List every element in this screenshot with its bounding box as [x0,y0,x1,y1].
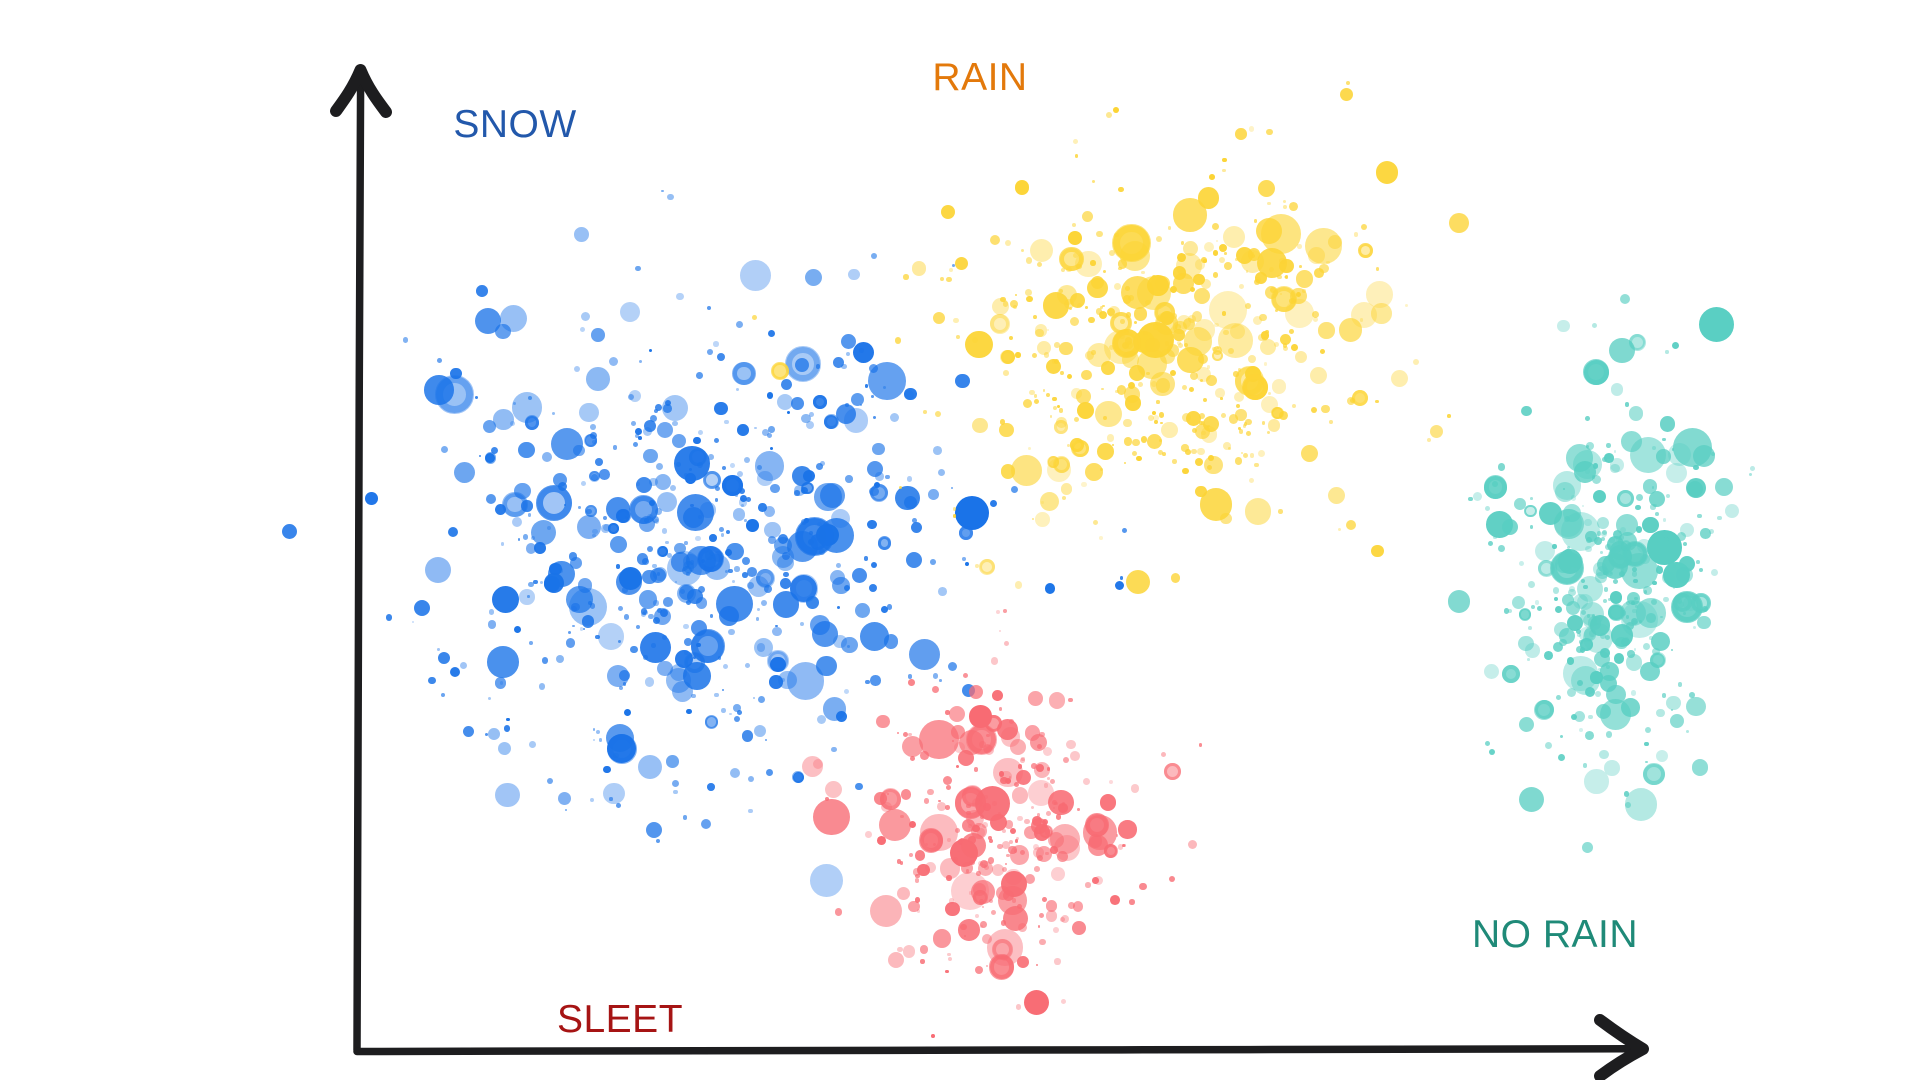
scatter-point-speck [437,648,440,651]
scatter-point-speck [1053,927,1059,933]
scatter-point [1025,725,1041,741]
scatter-point [990,814,1007,831]
scatter-point [1328,487,1345,504]
scatter-point-speck [732,580,735,583]
scatter-point [1346,520,1356,530]
scatter-point [764,522,780,538]
scatter-point [1656,709,1665,718]
scatter-point [794,490,799,495]
scatter-point [975,966,983,974]
scatter-point [1592,323,1597,328]
scatter-point [403,337,409,343]
scatter-point [646,822,663,839]
scatter-point [864,556,869,561]
scatter-point-speck [1625,402,1630,407]
scatter-point-ring [973,890,988,905]
scatter-point [498,742,511,755]
scatter-point [801,414,810,423]
scatter-point [845,475,852,482]
scatter-point [734,716,740,722]
scatter-point [787,411,790,414]
scatter-point [475,396,478,399]
scatter-point [869,364,878,373]
cluster-label-snow: SNOW [453,103,576,147]
scatter-point [1115,581,1124,590]
scatter-point [841,334,856,349]
scatter-plot-figure: SNOW RAIN SLEET NO RAIN [0,0,1920,1080]
scatter-point [386,614,392,620]
scatter-point-speck [590,603,595,608]
scatter-point [1256,218,1282,244]
scatter-point [1531,605,1535,609]
scatter-point [1555,606,1562,613]
scatter-point [1175,324,1180,329]
scatter-point [624,709,631,716]
scatter-point-speck [1128,295,1134,301]
scatter-point-speck [975,564,979,568]
scatter-point [955,374,970,389]
scatter-point-speck [1686,730,1689,733]
scatter-point [1248,355,1256,363]
scatter-point-ring [1104,844,1118,858]
scatter-point [768,330,776,338]
scatter-point-speck [580,627,583,630]
scatter-point-speck [930,559,936,565]
scatter-point-speck [1504,608,1510,614]
scatter-point [574,227,589,242]
scatter-point [1074,417,1079,422]
scatter-point [687,589,703,605]
scatter-point [825,781,842,798]
scatter-point-speck [1005,240,1011,246]
scatter-point [904,388,916,400]
scatter-point [1656,750,1668,762]
scatter-point [1126,570,1151,595]
scatter-point [1558,549,1583,574]
scatter-point-speck [1678,682,1683,687]
scatter-point-ring [1617,490,1634,507]
scatter-point [846,352,850,356]
scatter-point-speck [940,277,944,281]
scatter-point [514,626,522,634]
scatter-point-speck [1034,394,1037,397]
scatter-point-speck [1583,585,1588,590]
scatter-point [619,686,623,690]
scatter-point-speck [999,630,1002,633]
scatter-point [945,970,948,973]
scatter-point [912,261,926,275]
scatter-point [1590,671,1602,683]
scatter-point [911,522,923,534]
scatter-point-speck [1665,350,1668,353]
scatter-point [672,434,686,448]
scatter-point [428,677,436,685]
scatter-point [1567,546,1570,549]
scatter-point-speck [643,655,648,660]
scatter-point [662,528,668,534]
scatter-point [758,696,765,703]
scatter-point-ring [525,415,540,430]
scatter-point [867,461,883,477]
scatter-point-speck [1264,362,1268,366]
scatter-point-speck [1021,757,1024,760]
scatter-point-speck [1606,443,1611,448]
scatter-point [848,269,860,281]
scatter-point [1114,283,1121,290]
scatter-point-speck [1149,323,1151,325]
scatter-point [1161,752,1166,757]
scatter-point [493,409,513,429]
scatter-point-speck [1103,270,1106,273]
scatter-point [734,566,739,571]
scatter-point [1203,398,1207,402]
scatter-point [1267,202,1271,206]
scatter-point [1308,247,1325,264]
scatter-point-speck [1605,544,1611,550]
scatter-point [802,756,823,777]
scatter-point [1160,349,1175,364]
scatter-point-speck [1268,392,1271,395]
scatter-point [1629,406,1643,420]
scatter-point [1621,601,1658,638]
scatter-point [1449,213,1469,233]
scatter-point-speck [724,420,729,425]
scatter-point-speck [1073,139,1078,144]
scatter-point [1528,581,1535,588]
scatter-point [1614,653,1625,664]
scatter-point [1498,463,1506,471]
scatter-point [476,285,488,297]
scatter-point [1610,591,1623,604]
scatter-point [1223,442,1231,450]
scatter-point [1519,561,1525,567]
scatter-point-ring [1534,700,1554,720]
scatter-point [568,631,571,634]
scatter-point-speck [1693,626,1697,630]
scatter-point [1583,763,1587,767]
scatter-point [1068,902,1075,909]
scatter-point [757,608,761,612]
scatter-point-speck [710,614,713,617]
scatter-point [1554,597,1558,601]
scatter-point [920,945,929,954]
scatter-point-speck [945,805,950,810]
scatter-point-speck [1106,112,1112,118]
scatter-point-ring [1519,608,1531,620]
scatter-point [836,711,847,722]
scatter-point [1043,747,1052,756]
scatter-point-speck [1649,636,1653,640]
scatter-point [1699,307,1734,342]
scatter-point [969,705,991,727]
scatter-point [909,821,917,829]
scatter-point [1089,834,1102,847]
scatter-point-ring [771,362,789,380]
scatter-point-ring [608,523,619,534]
scatter-point-speck [1182,385,1187,390]
scatter-point [1059,408,1063,412]
scatter-point [1518,636,1534,652]
scatter-point [441,446,448,453]
scatter-point [1553,587,1559,593]
scatter-point [1502,519,1518,535]
scatter-point [867,520,876,529]
scatter-point [1118,820,1136,838]
scatter-point [955,496,989,530]
scatter-point [915,897,921,903]
scatter-point [1092,180,1095,183]
scatter-point [1206,375,1217,386]
scatter-point-speck [412,621,414,623]
scatter-point [1126,312,1131,317]
scatter-point [1060,371,1064,375]
scatter-point [570,557,582,569]
scatter-point [1447,414,1451,418]
scatter-point [853,342,874,363]
scatter-point [1145,338,1159,352]
scatter-point-ring [955,787,987,819]
scatter-point [806,596,819,609]
scatter-point [700,502,715,517]
scatter-point [1100,794,1117,811]
scatter-point-speck [665,541,668,544]
scatter-point [1599,750,1609,760]
scatter-point [1621,638,1629,646]
scatter-point-ring [1112,224,1150,262]
scatter-point [1655,512,1659,516]
scatter-point [933,312,945,324]
scatter-point [991,910,996,915]
scatter-point-speck [1671,649,1673,651]
scatter-point [1666,696,1681,711]
scatter-point [1169,876,1175,882]
scatter-point [1032,353,1037,358]
scatter-point [603,766,611,774]
scatter-point [1255,272,1267,284]
scatter-point [1519,717,1534,732]
scatter-point-speck [976,871,981,876]
scatter-point [488,620,497,629]
scatter-point [630,646,638,654]
scatter-point [1016,1004,1022,1010]
scatter-point-ring [1071,440,1089,458]
scatter-point [1114,233,1118,237]
scatter-point [542,657,549,664]
scatter-point [748,776,754,782]
scatter-point-speck [1062,496,1066,500]
scatter-point [1619,535,1624,540]
scatter-point [845,403,849,407]
scatter-point-speck [897,947,902,952]
scatter-point [683,561,694,572]
scatter-point-speck [1116,834,1118,836]
scatter-point-speck [527,595,530,598]
scatter-point-speck [1046,811,1051,816]
scatter-point [946,785,951,790]
scatter-point-speck [986,965,988,967]
scatter-point [897,887,910,900]
scatter-point [1585,416,1590,421]
scatter-point [1677,532,1686,541]
scatter-point [1672,342,1679,349]
scatter-point-speck [1191,449,1196,454]
scatter-point [933,446,942,455]
scatter-point [1032,816,1042,826]
scatter-point-speck [1537,606,1543,612]
scatter-point [831,747,837,753]
scatter-point [595,635,599,639]
scatter-point [714,402,727,415]
scatter-point [1132,439,1139,446]
scatter-point-speck [754,427,756,429]
scatter-point-speck [581,481,586,486]
scatter-point [1188,840,1197,849]
scatter-point-speck [1015,294,1017,296]
scatter-point [1156,236,1162,242]
scatter-point-speck [1375,400,1378,403]
scatter-point [674,543,686,555]
scatter-point [1195,259,1205,269]
scatter-point [616,564,621,569]
scatter-point [1686,697,1706,717]
scatter-point-speck [518,538,520,540]
scatter-point [1643,643,1650,650]
scatter-point [1054,958,1060,964]
scatter-point [1071,388,1082,399]
scatter-point-speck [1033,315,1037,319]
scatter-point [495,783,519,807]
scatter-point [757,643,766,652]
scatter-point [1567,688,1576,697]
scatter-point [1249,478,1254,483]
scatter-point [717,353,725,361]
scatter-point [1258,450,1265,457]
scatter-point [1292,404,1296,408]
scatter-point [1320,349,1325,354]
scatter-point [607,665,629,687]
scatter-point [1673,428,1712,467]
scatter-point-speck [951,487,953,489]
scatter-point [1139,883,1146,890]
scatter-point [1141,271,1144,274]
scatter-point [1033,847,1044,858]
scatter-point [1109,345,1114,350]
scatter-point [852,568,867,583]
scatter-point-speck [1600,551,1603,554]
scatter-point [992,298,1009,315]
scatter-point [1711,569,1718,576]
scatter-point [1035,329,1043,337]
scatter-point-ring [878,536,892,550]
scatter-point [1702,606,1708,612]
scatter-point [1159,412,1164,417]
scatter-point-speck [765,739,767,741]
scatter-point [940,858,960,878]
scatter-point [1283,200,1286,203]
scatter-point [1197,448,1204,455]
scatter-point [752,315,757,320]
scatter-point-ring [1054,420,1068,434]
scatter-point [1134,307,1148,321]
scatter-point-speck [1530,497,1533,500]
scatter-point [1559,628,1575,644]
scatter-point [948,662,957,671]
scatter-point [610,536,627,553]
scatter-point [539,683,546,690]
scatter-point [1609,537,1615,543]
scatter-point-ring [979,559,995,575]
scatter-point [556,655,564,663]
scatter-point-speck [698,430,703,435]
scatter-point [1601,537,1605,541]
scatter-point [1660,416,1675,431]
scatter-point [1239,429,1244,434]
scatter-point [938,469,946,477]
scatter-point [723,664,729,670]
scatter-point [635,266,640,271]
scatter-point [992,690,1003,701]
scatter-point [542,452,552,462]
scatter-point [1566,601,1580,615]
scatter-point [599,738,603,742]
scatter-point [739,498,747,506]
scatter-point [800,622,804,626]
scatter-point [872,443,885,456]
scatter-point [1118,187,1123,192]
scatter-point-speck [1663,518,1667,522]
scatter-point [1042,897,1047,902]
scatter-point [1070,317,1079,326]
scatter-point-speck [726,530,730,534]
scatter-point-speck [1224,252,1227,255]
scatter-point [1512,596,1525,609]
scatter-point [1584,519,1591,526]
scatter-point [1620,294,1630,304]
scatter-point [761,600,767,606]
scatter-point-ring [1059,247,1083,271]
scatter-point-speck [1579,728,1583,732]
scatter-point-speck [1582,505,1584,507]
scatter-point [1640,662,1660,682]
scatter-point-speck [729,713,732,716]
scatter-point [948,957,952,961]
scatter-point-ring [1484,475,1508,499]
scatter-point-speck [1050,415,1053,418]
scatter-point [1123,419,1132,428]
scatter-point [500,305,527,332]
scatter-point [865,831,872,838]
scatter-point [1585,731,1594,740]
scatter-point-speck [1274,342,1279,347]
scatter-point [908,901,919,912]
scatter-point [758,503,767,512]
scatter-point [742,557,750,565]
scatter-point [1709,529,1714,534]
scatter-point [1010,828,1016,834]
scatter-point [909,639,940,670]
scatter-point [1093,520,1098,525]
scatter-point-speck [1604,587,1609,592]
scatter-point-speck [1101,388,1104,391]
scatter-point [1272,379,1286,393]
scatter-point [1291,344,1298,351]
scatter-point [1670,714,1685,729]
scatter-point [1181,241,1184,244]
scatter-point [488,697,491,700]
scatter-point [620,302,640,322]
scatter-point [512,517,522,527]
scatter-point-speck [945,710,949,714]
